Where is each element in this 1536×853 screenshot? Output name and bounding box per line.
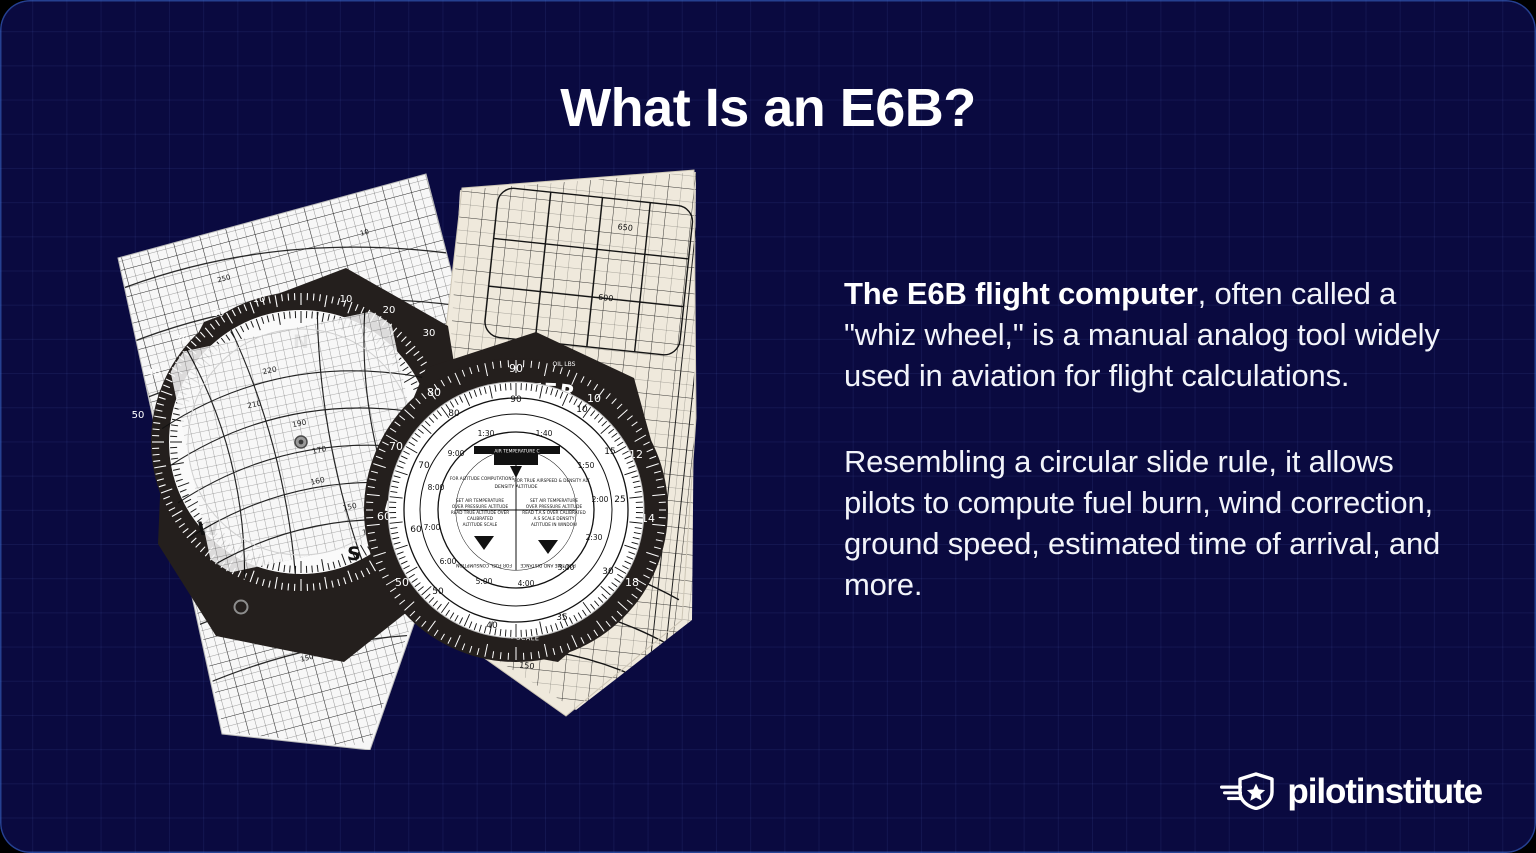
svg-text:ALTITUDE SCALE: ALTITUDE SCALE (463, 522, 498, 527)
svg-text:18: 18 (625, 576, 639, 589)
svg-text:20: 20 (212, 308, 225, 319)
svg-text:70: 70 (418, 461, 430, 471)
paragraph-2-rest: Resembling a circular slide rule, it all… (844, 444, 1440, 602)
svg-text:5:00: 5:00 (476, 577, 493, 586)
svg-text:90: 90 (510, 395, 522, 405)
svg-text:9:00: 9:00 (448, 449, 465, 458)
svg-text:1:50: 1:50 (578, 461, 595, 470)
paragraph-1-lead: The E6B flight computer (844, 276, 1198, 311)
svg-text:40: 40 (148, 368, 161, 379)
svg-text:30: 30 (423, 328, 436, 339)
svg-text:4:00: 4:00 (518, 579, 535, 588)
winged-shield-star-icon (1220, 772, 1276, 810)
svg-text:40: 40 (486, 621, 498, 631)
svg-text:CALIBRATED: CALIBRATED (467, 516, 493, 521)
svg-text:80: 80 (448, 409, 460, 419)
svg-text:80: 80 (427, 386, 441, 399)
slide-card: What Is an E6B? (0, 0, 1536, 853)
density-altitude-label: DENSITY ALTITUDE (494, 484, 537, 490)
svg-text:READ T.A.S OVER CALIBRATED: READ T.A.S OVER CALIBRATED (522, 510, 585, 515)
svg-text:10: 10 (253, 294, 266, 305)
air-temperature-label: AIR TEMPERATURE C (494, 449, 539, 455)
svg-text:600: 600 (598, 293, 614, 304)
svg-text:8:00: 8:00 (428, 483, 445, 492)
paragraph-1: The E6B flight computer, often called a … (844, 273, 1464, 396)
svg-text:OVER PRESSURE ALTITUDE: OVER PRESSURE ALTITUDE (452, 504, 509, 509)
e6b-illustration: 25010 15020 (96, 150, 716, 750)
svg-text:50: 50 (395, 576, 409, 589)
svg-text:A.S SCALE DENSITY: A.S SCALE DENSITY (534, 516, 575, 521)
svg-text:70: 70 (389, 440, 403, 453)
svg-text:2:30: 2:30 (586, 533, 603, 542)
svg-text:30: 30 (176, 334, 189, 345)
svg-text:90: 90 (509, 362, 523, 375)
svg-text:1:40: 1:40 (536, 429, 553, 438)
svg-text:50: 50 (132, 410, 145, 421)
svg-text:10: 10 (587, 392, 601, 405)
fuel-consumption-label: FOR FUEL CONSUMPTION (456, 562, 512, 568)
svg-text:35: 35 (556, 613, 567, 623)
svg-text:60: 60 (410, 525, 422, 535)
svg-text:7:00: 7:00 (424, 523, 441, 532)
page-title: What Is an E6B? (0, 80, 1536, 137)
paragraph-2: Resembling a circular slide rule, it all… (844, 441, 1464, 605)
svg-text:10: 10 (576, 405, 588, 415)
svg-text:1:30: 1:30 (478, 429, 495, 438)
svg-text:2:00: 2:00 (592, 495, 609, 504)
time-distance-label: FOR TIME AND DISTANCE (520, 562, 576, 568)
svg-text:SET AIR TEMPERATURE: SET AIR TEMPERATURE (530, 498, 578, 503)
svg-text:OVER PRESSURE ALTITUDE: OVER PRESSURE ALTITUDE (526, 504, 583, 509)
brand-logo: pilotinstitute (1220, 772, 1482, 810)
svg-text:ALTITUDE IN WINDOW: ALTITUDE IN WINDOW (531, 522, 577, 527)
svg-text:READ TRUE ALTITUDE OVER: READ TRUE ALTITUDE OVER (451, 510, 509, 515)
true-airspeed-label: FOR TRUE AIRSPEED & DENSITY ALT (514, 478, 590, 483)
svg-text:SET AIR TEMPERATURE: SET AIR TEMPERATURE (456, 498, 504, 503)
svg-text:650: 650 (617, 222, 633, 233)
svg-text:10: 10 (340, 294, 353, 305)
svg-text:6:00: 6:00 (440, 557, 457, 566)
oil-lbs-label: OIL LBS (553, 361, 576, 368)
svg-text:50: 50 (432, 587, 444, 597)
brand-name: pilotinstitute (1287, 774, 1482, 809)
svg-text:25: 25 (614, 495, 625, 505)
svg-text:20: 20 (383, 305, 396, 316)
svg-text:30: 30 (602, 567, 614, 577)
svg-text:150: 150 (519, 660, 535, 671)
svg-text:15: 15 (604, 447, 615, 457)
altitude-computations-label: FOR ALTITUDE COMPUTATIONS (450, 476, 515, 481)
body-copy: The E6B flight computer, often called a … (844, 273, 1464, 605)
